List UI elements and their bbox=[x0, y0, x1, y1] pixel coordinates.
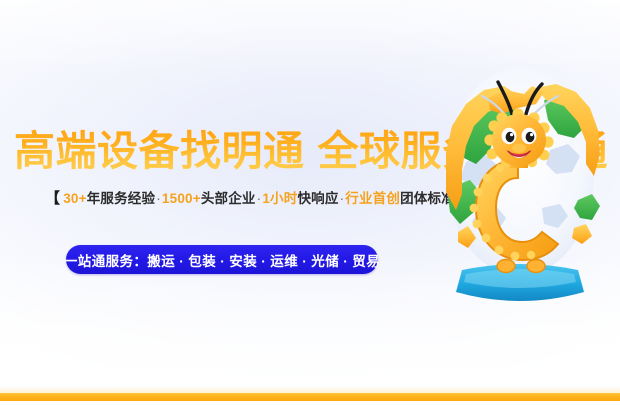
headline-part-1: 高端设备找明通 bbox=[14, 128, 305, 174]
stat-4-highlight: 行业首创 bbox=[345, 191, 400, 206]
dragon-mascot-icon bbox=[432, 42, 608, 310]
stat-3-highlight: 1小时 bbox=[262, 191, 297, 206]
bottom-rule-glow bbox=[0, 386, 620, 393]
bottom-accent-bar bbox=[0, 393, 620, 401]
stat-1-highlight: 30+ bbox=[63, 191, 87, 206]
services-pill-label: 一站通服务：搬运 · 包装 · 安装 · 运维 · 光储 · 贸易 bbox=[64, 250, 380, 270]
stat-1-rest: 年服务经验 bbox=[87, 191, 156, 206]
subtitle-line: 【30+年服务经验·1500+头部企业·1小时快响应·行业首创团体标准】 bbox=[45, 189, 473, 209]
promo-banner: 高端设备找明通全球服务一站通 【30+年服务经验·1500+头部企业·1小时快响… bbox=[0, 0, 620, 405]
bracket-open: 【 bbox=[45, 190, 60, 207]
stat-2-highlight: 1500+ bbox=[162, 191, 201, 206]
stat-2-rest: 头部企业 bbox=[201, 191, 256, 206]
stat-3-rest: 快响应 bbox=[297, 191, 338, 206]
subtitle-separator-1: · bbox=[155, 191, 162, 206]
services-pill[interactable]: 一站通服务：搬运 · 包装 · 安装 · 运维 · 光储 · 贸易 bbox=[66, 245, 378, 274]
